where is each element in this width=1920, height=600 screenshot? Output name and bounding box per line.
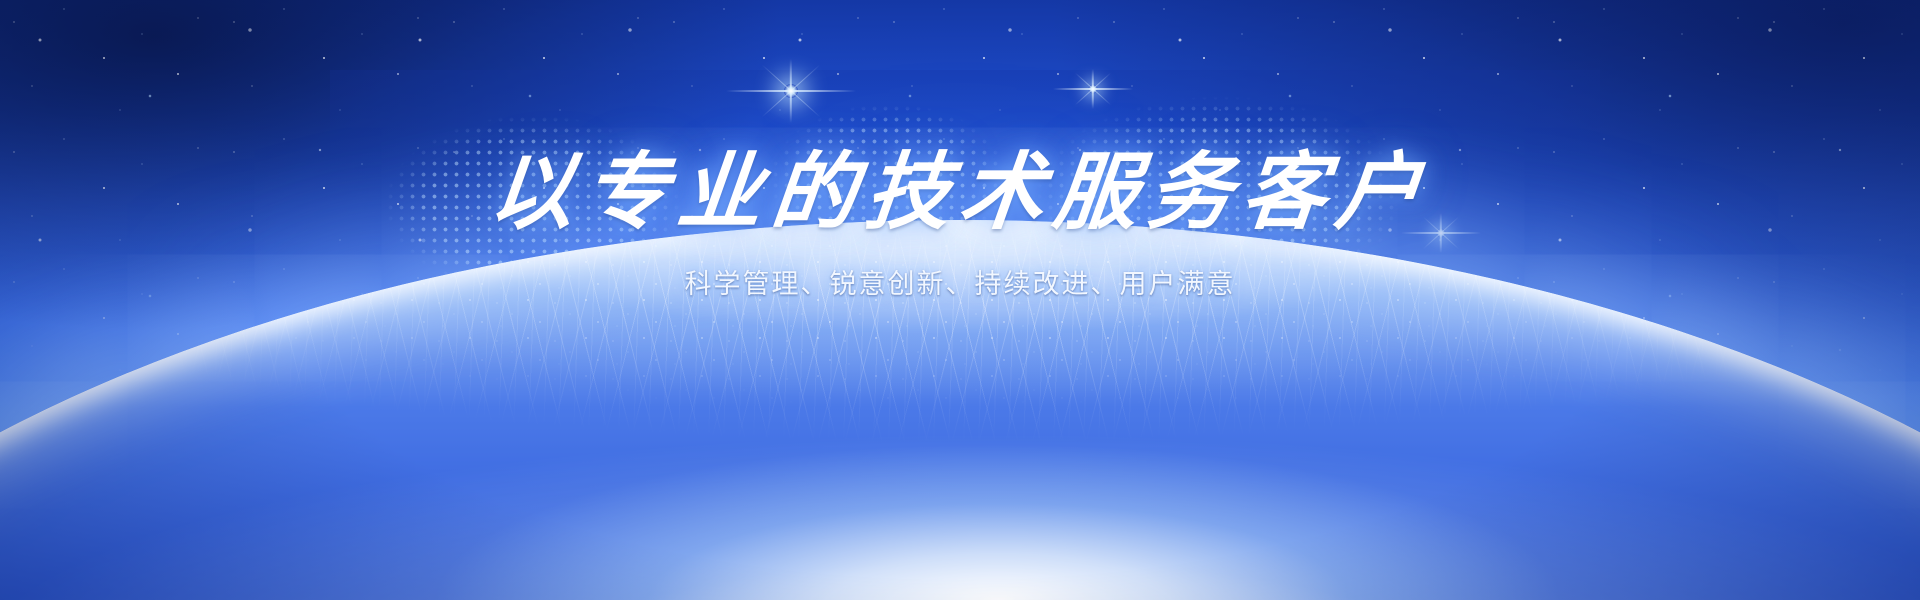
banner-headline: 以专业的技术服务客户 [486, 152, 1435, 236]
banner-subtitle: 科学管理、锐意创新、持续改进、用户满意 [685, 262, 1236, 301]
banner-content: 以专业的技术服务客户 科学管理、锐意创新、持续改进、用户满意 [0, 0, 1920, 600]
hero-banner: 以专业的技术服务客户 科学管理、锐意创新、持续改进、用户满意 [0, 0, 1920, 600]
